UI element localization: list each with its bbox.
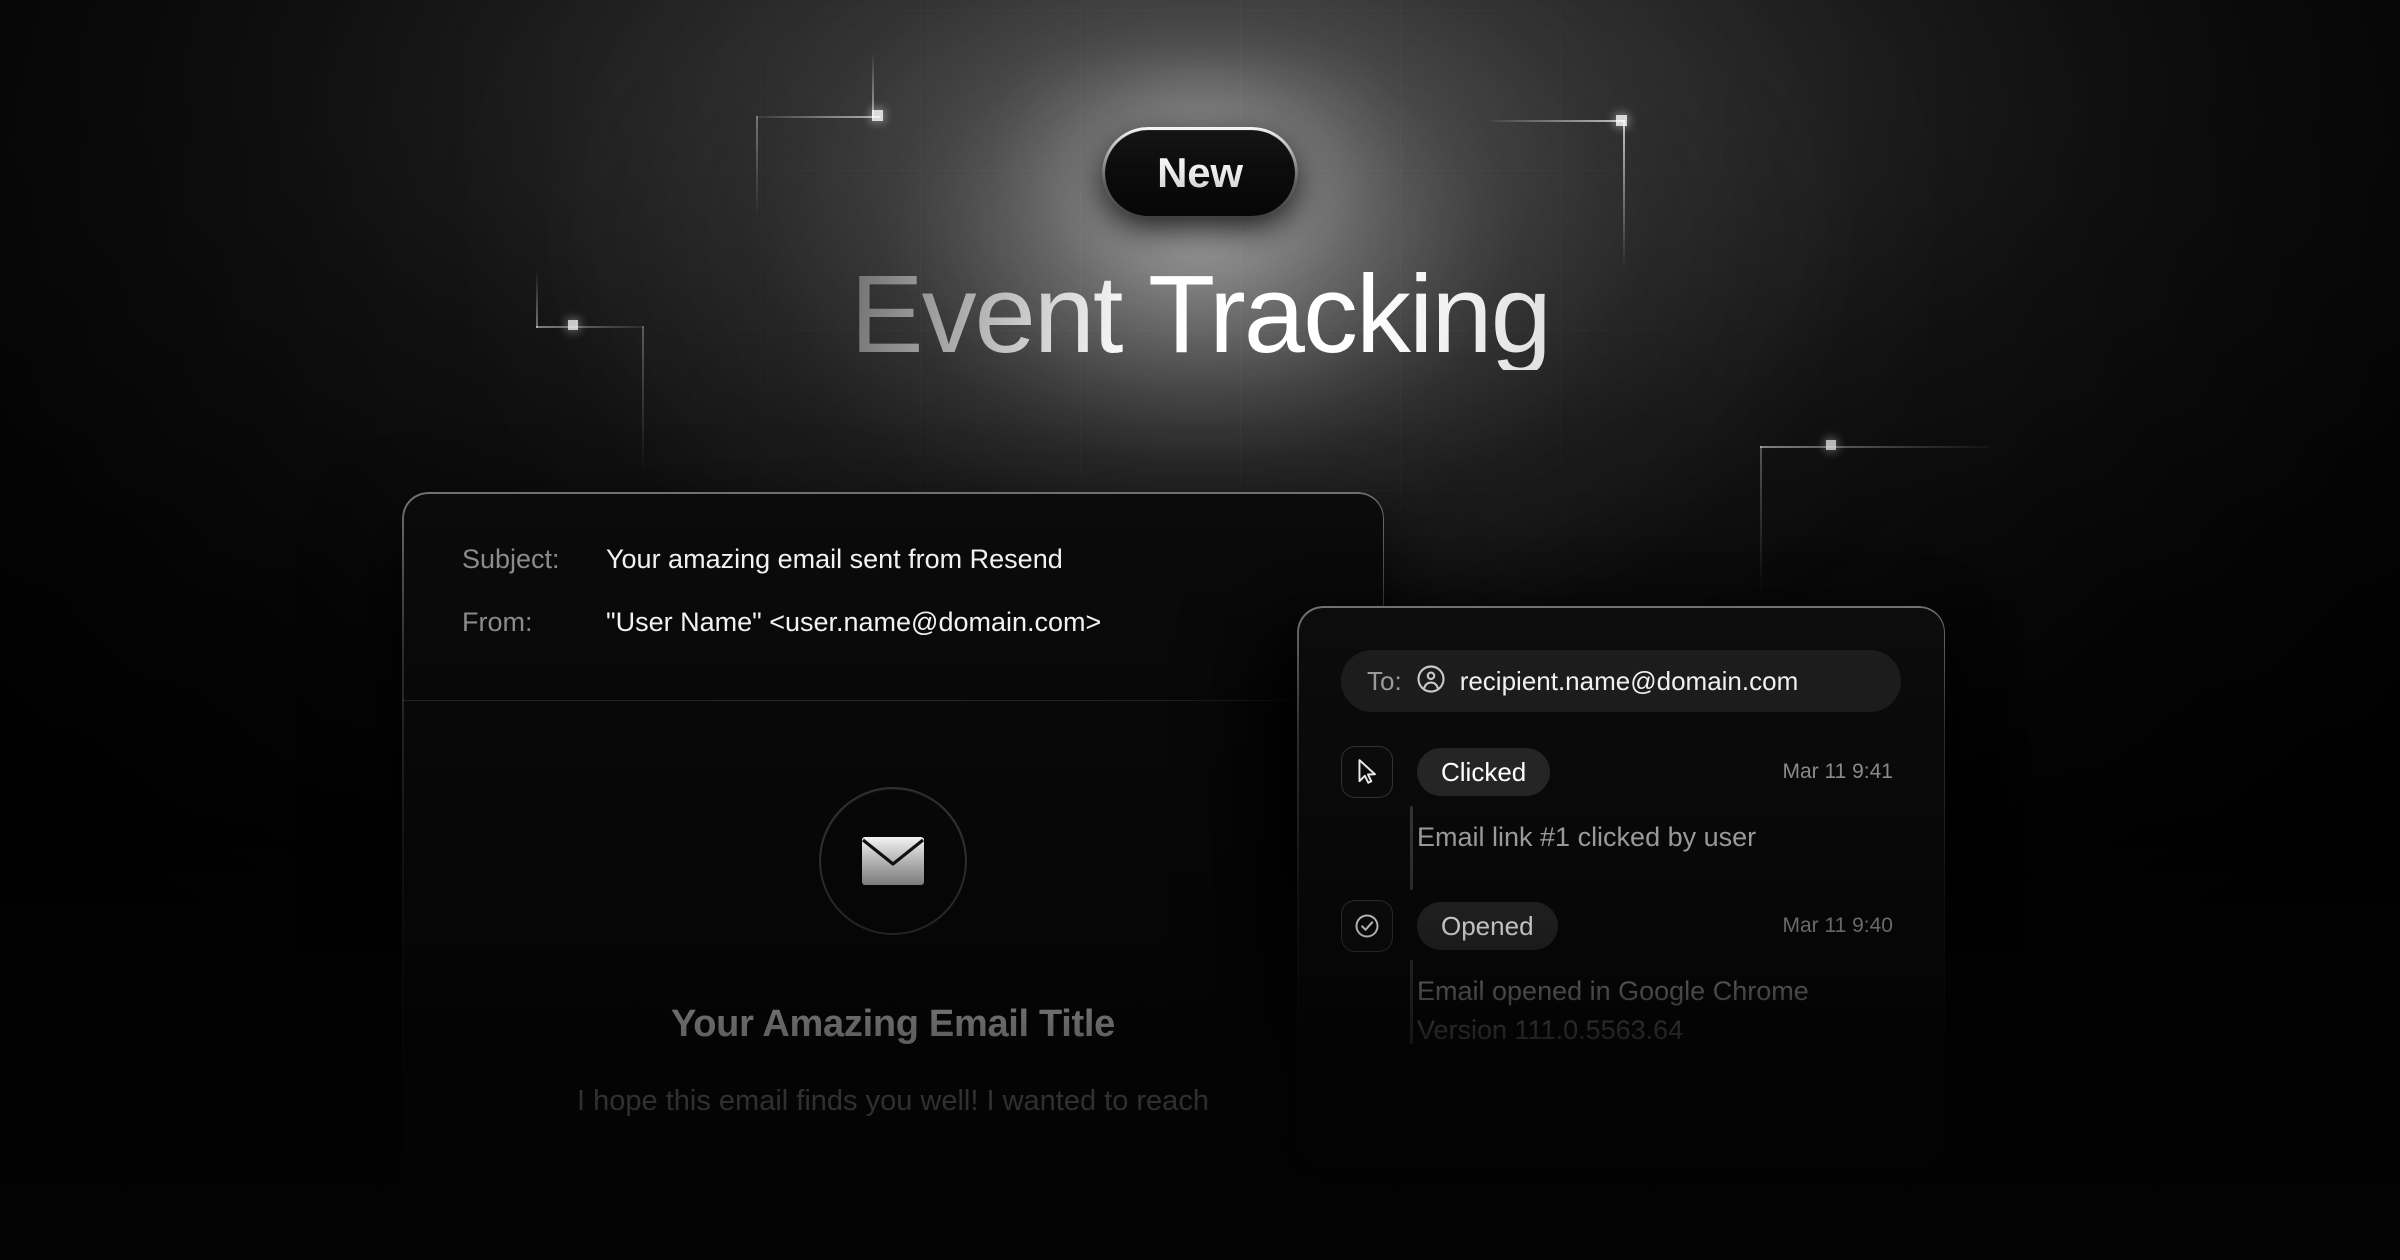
- envelope-icon: [861, 836, 925, 886]
- recipient-label: To:: [1367, 666, 1402, 697]
- event-connector-line: [1410, 960, 1413, 1044]
- email-header: Subject: Your amazing email sent from Re…: [402, 492, 1384, 638]
- envelope-icon-circle: [819, 787, 967, 935]
- event-connector-line: [1410, 806, 1413, 890]
- new-badge[interactable]: New: [1105, 130, 1295, 216]
- event-timestamp: Mar 11 9:40: [1782, 914, 1901, 938]
- event-tracking-card: To: recipient.name@domain.com: [1297, 606, 1945, 1166]
- email-body: Your Amazing Email Title I hope this ema…: [402, 701, 1384, 1232]
- event-header: Opened Mar 11 9:40: [1417, 900, 1901, 952]
- recipient-email: recipient.name@domain.com: [1460, 666, 1799, 697]
- event-item-opened[interactable]: Opened Mar 11 9:40 Email opened in Googl…: [1341, 900, 1901, 1049]
- event-status-badge: Opened: [1417, 902, 1558, 950]
- page-title: Event Tracking: [850, 260, 1550, 370]
- email-subject-row: Subject: Your amazing email sent from Re…: [462, 544, 1324, 575]
- hero-section: New Event Tracking: [0, 130, 2400, 370]
- recipient-pill[interactable]: To: recipient.name@domain.com: [1341, 650, 1901, 712]
- event-content: Clicked Mar 11 9:41 Email link #1 clicke…: [1417, 746, 1901, 856]
- cursor-pointer-icon: [1341, 746, 1393, 798]
- event-item-clicked[interactable]: Clicked Mar 11 9:41 Email link #1 clicke…: [1341, 746, 1901, 856]
- event-status-badge: Clicked: [1417, 748, 1550, 796]
- email-from-label: From:: [462, 607, 606, 638]
- event-description: Email link #1 clicked by user: [1417, 818, 1901, 856]
- email-from-row: From: "User Name" <user.name@domain.com>: [462, 607, 1324, 638]
- email-subject-label: Subject:: [462, 544, 606, 575]
- email-preview-card: Subject: Your amazing email sent from Re…: [402, 492, 1384, 1232]
- event-timestamp: Mar 11 9:41: [1782, 760, 1901, 784]
- event-header: Clicked Mar 11 9:41: [1417, 746, 1901, 798]
- new-badge-label: New: [1157, 149, 1243, 197]
- email-body-paragraph: I hope this email finds you well! I want…: [577, 1080, 1209, 1124]
- person-circle-icon: [1416, 664, 1446, 699]
- hero-graphic: New Event Tracking Subject: Your amazing…: [0, 0, 2400, 1260]
- event-content: Opened Mar 11 9:40 Email opened in Googl…: [1417, 900, 1901, 1049]
- event-description: Email opened in Google Chrome Version 11…: [1417, 972, 1901, 1049]
- check-circle-icon: [1341, 900, 1393, 952]
- email-subject-value: Your amazing email sent from Resend: [606, 544, 1063, 575]
- email-body-title: Your Amazing Email Title: [671, 1003, 1115, 1046]
- new-badge-wrapper: New: [1105, 130, 1295, 216]
- email-from-value: "User Name" <user.name@domain.com>: [606, 607, 1101, 638]
- event-list: Clicked Mar 11 9:41 Email link #1 clicke…: [1297, 746, 1945, 1049]
